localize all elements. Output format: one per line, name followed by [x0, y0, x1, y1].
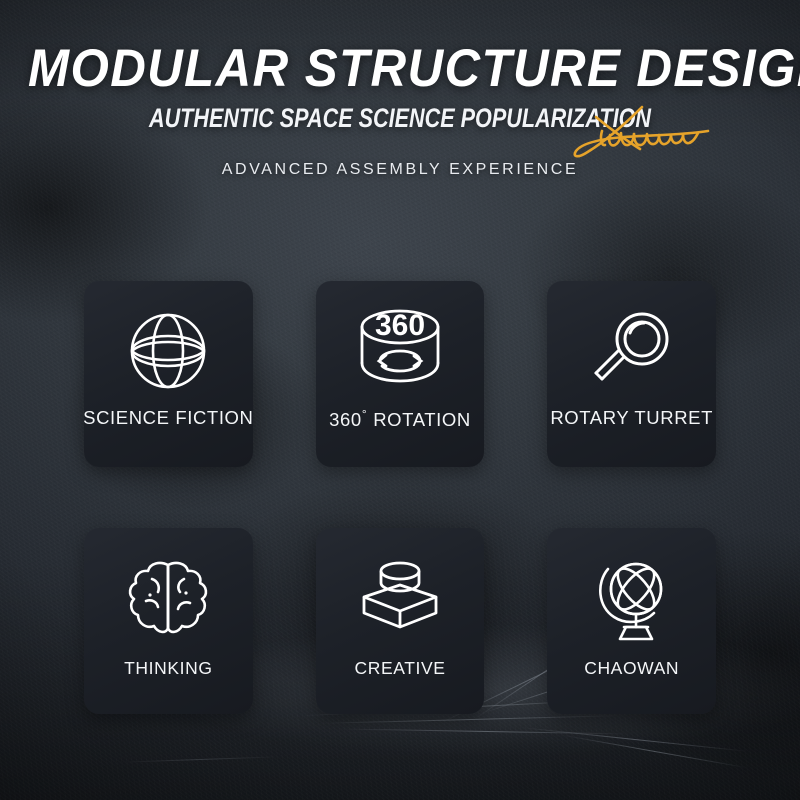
- feature-row-1: SCIENCE FICTION 360: [84, 281, 716, 467]
- degree-sign: °: [362, 407, 373, 421]
- subtitle-row: AUTHENTIC SPACE SCIENCE POPULARIZATION: [0, 103, 800, 143]
- feature-row-2: THINKING CREATIVE: [84, 528, 716, 714]
- feature-card-rotary-turret[interactable]: ROTARY TURRET: [547, 281, 716, 467]
- building-block-icon: [350, 548, 450, 652]
- svg-text:360: 360: [375, 309, 425, 342]
- brain-icon: [122, 548, 214, 652]
- feature-label-rest: ROTATION: [373, 409, 471, 430]
- feature-label: 360°ROTATION: [294, 407, 507, 431]
- feature-card-thinking[interactable]: THINKING: [84, 528, 253, 714]
- 360-rotation-icon: 360: [348, 295, 452, 407]
- feature-card-science-fiction[interactable]: SCIENCE FICTION: [84, 281, 253, 467]
- page-tagline: ADVANCED ASSEMBLY EXPERIENCE: [0, 161, 800, 179]
- magnifier-lens-icon: [586, 295, 678, 407]
- feature-grid: SCIENCE FICTION 360: [84, 281, 716, 714]
- header: MODULAR STRUCTURE DESIGN AUTHENTIC SPACE…: [0, 0, 800, 179]
- feature-label-number: 360: [329, 409, 362, 430]
- feature-label: CHAOWAN: [525, 658, 738, 679]
- feature-card-360-rotation[interactable]: 360 360°ROTATION: [316, 281, 485, 467]
- feature-label: THINKING: [62, 658, 275, 679]
- page-subtitle: AUTHENTIC SPACE SCIENCE POPULARIZATION: [80, 103, 720, 134]
- page-title: MODULAR STRUCTURE DESIGN: [28, 0, 772, 99]
- feature-label: SCIENCE FICTION: [62, 407, 275, 429]
- feature-label: CREATIVE: [294, 658, 507, 679]
- desk-globe-icon: [586, 548, 678, 652]
- feature-label: ROTARY TURRET: [525, 407, 738, 429]
- feature-card-creative[interactable]: CREATIVE: [316, 528, 485, 714]
- feature-card-chaowan[interactable]: CHAOWAN: [547, 528, 716, 714]
- globe-wireframe-icon: [122, 295, 214, 407]
- promo-banner: MODULAR STRUCTURE DESIGN AUTHENTIC SPACE…: [0, 0, 800, 800]
